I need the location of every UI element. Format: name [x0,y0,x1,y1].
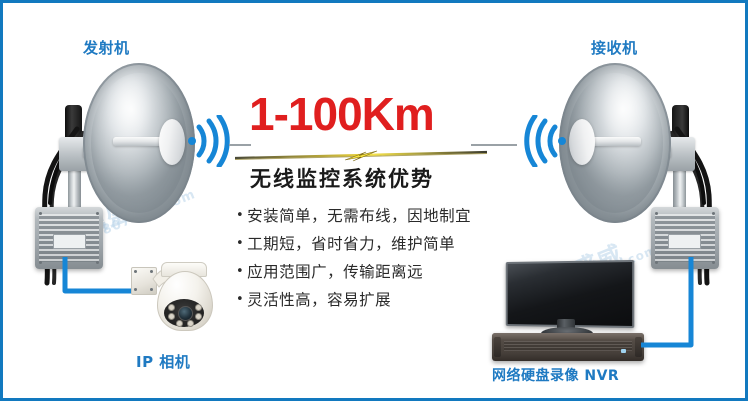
ir-led [176,320,183,327]
ir-led [168,304,175,311]
wifi-signal-left-icon [187,115,233,167]
enclosure-label [53,234,86,248]
label-transmitter: 发射机 [83,37,130,58]
list-item: 安装简单，无需布线，因地制宜 [236,203,526,231]
ir-led [187,320,194,327]
wireless-surveillance-poster: 鼎盛威 400807559.com 鼎盛威 400807559.com [0,0,748,401]
enclosure-label [668,234,701,248]
feed-horn-right [569,119,595,165]
wifi-signal-right-icon [521,115,567,167]
list-item: 应用范围广，传输距离远 [236,259,526,287]
link-line-left [229,144,251,146]
camera-lens-face [164,299,204,327]
ir-led [168,313,175,320]
feed-arm-right [587,137,641,146]
section-subheading: 无线监控系统优势 [250,163,434,193]
camera-lens [178,306,193,321]
label-receiver: 接收机 [591,37,638,58]
headline-distance: 1-100Km [249,91,434,137]
ir-led [195,304,202,311]
lightning-bolt-divider-icon [235,149,487,163]
ir-led [195,313,202,320]
advantages-list: 安装简单，无需布线，因地制宜 工期短，省时省力，维护简单 应用范围广，传输距离远… [236,203,526,315]
list-item: 工期短，省时省力，维护简单 [236,231,526,259]
label-nvr: 网络硬盘录像 NVR [492,365,619,385]
nvr-top-panel [492,333,644,339]
label-ip-camera: IP 相机 [136,351,190,372]
list-item: 灵活性高，容易扩展 [236,287,526,315]
nvr-vent-lines [504,341,632,351]
ip-camera [131,261,223,347]
link-line-right [471,144,517,146]
nvr-recorder [492,333,644,361]
feed-horn-left [159,119,185,165]
nvr-left-bracket [494,337,502,357]
ethernet-cable-nvr [633,255,748,365]
nvr-status-led [621,349,626,353]
